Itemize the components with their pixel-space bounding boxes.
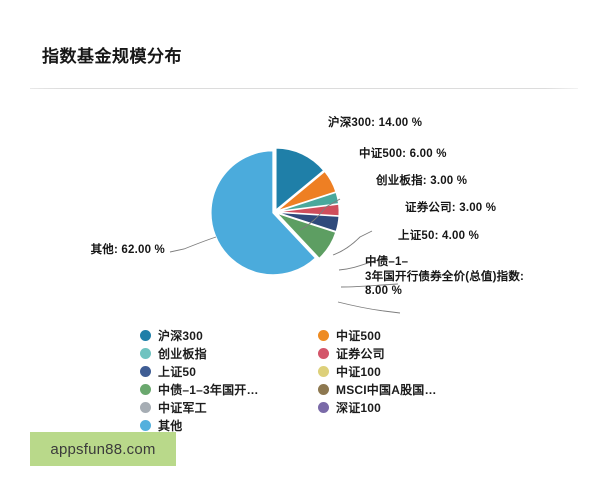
legend-item-label: 中债–1–3年国开… [158, 381, 259, 398]
legend-color-swatch [318, 402, 329, 413]
legend-column-left: 沪深300创业板指上证50中债–1–3年国开…中证军工其他 [140, 326, 300, 436]
legend-item-label: 中证军工 [158, 399, 207, 416]
callout-hs300: 沪深300: 14.00 % [328, 116, 422, 131]
legend-item-label: 上证50 [158, 363, 196, 380]
legend-item[interactable]: 证券公司 [318, 344, 488, 362]
legend-color-swatch [140, 384, 151, 395]
legend-item[interactable]: 中证500 [318, 326, 488, 344]
callout-zhaiquan-line2: 3年国开行债券全价(总值)指数: [365, 271, 524, 283]
legend-color-swatch [140, 348, 151, 359]
legend-item-label: 创业板指 [158, 345, 207, 362]
callout-sz50: 上证50: 4.00 % [398, 229, 479, 244]
legend-item-label: 沪深300 [158, 327, 203, 344]
legend-item[interactable]: MSCI中国A股国… [318, 380, 488, 398]
legend-item-label: MSCI中国A股国… [336, 381, 437, 398]
legend-item-label: 证券公司 [336, 345, 385, 362]
legend-item-label: 其他 [158, 417, 182, 434]
callout-zqgs: 证券公司: 3.00 % [405, 201, 496, 216]
legend-item-label: 深证100 [336, 399, 381, 416]
legend-item[interactable]: 中证100 [318, 362, 488, 380]
watermark-text: appsfun88.com [50, 441, 155, 458]
legend-color-swatch [140, 420, 151, 431]
callout-zhaiquan-line1: 中债–1– [365, 256, 408, 268]
legend-item[interactable]: 创业板指 [140, 344, 300, 362]
legend-color-swatch [318, 366, 329, 377]
chart-page: 指数基金规模分布 沪深300: 14.00 % 中证500: 6.00 % 创业… [0, 0, 600, 480]
callout-zhaiquan: 中债–1– 3年国开行债券全价(总值)指数: 8.00 % [365, 255, 540, 299]
legend-color-swatch [318, 330, 329, 341]
legend-item[interactable]: 上证50 [140, 362, 300, 380]
legend-item-label: 中证500 [336, 327, 381, 344]
callout-qita: 其他: 62.00 % [60, 243, 165, 258]
plot-area: 沪深300: 14.00 % 中证500: 6.00 % 创业板指: 3.00 … [0, 95, 600, 320]
watermark-badge: appsfun88.com [30, 432, 176, 466]
legend-item-label: 中证100 [336, 363, 381, 380]
legend-item[interactable]: 中证军工 [140, 398, 300, 416]
page-title: 指数基金规模分布 [42, 42, 182, 67]
legend-color-swatch [318, 384, 329, 395]
legend-color-swatch [140, 366, 151, 377]
callout-zz500: 中证500: 6.00 % [359, 147, 447, 162]
legend-column-right: 中证500证券公司中证100MSCI中国A股国…深证100 [318, 326, 488, 436]
legend-item[interactable]: 深证100 [318, 398, 488, 416]
leader-line-zz500 [333, 231, 372, 255]
chart-header: 指数基金规模分布 [0, 0, 600, 80]
leader-line-qita [170, 237, 216, 252]
title-divider [30, 88, 578, 89]
leader-line-sz50 [338, 302, 400, 313]
callout-cybz: 创业板指: 3.00 % [376, 174, 467, 189]
legend-color-swatch [140, 402, 151, 413]
legend-item[interactable]: 沪深300 [140, 326, 300, 344]
pie-slice-group [211, 148, 339, 275]
chart-legend: 沪深300创业板指上证50中债–1–3年国开…中证军工其他 中证500证券公司中… [140, 326, 520, 436]
legend-color-swatch [140, 330, 151, 341]
legend-color-swatch [318, 348, 329, 359]
callout-zhaiquan-line3: 8.00 % [365, 285, 402, 297]
legend-item[interactable]: 中债–1–3年国开… [140, 380, 300, 398]
